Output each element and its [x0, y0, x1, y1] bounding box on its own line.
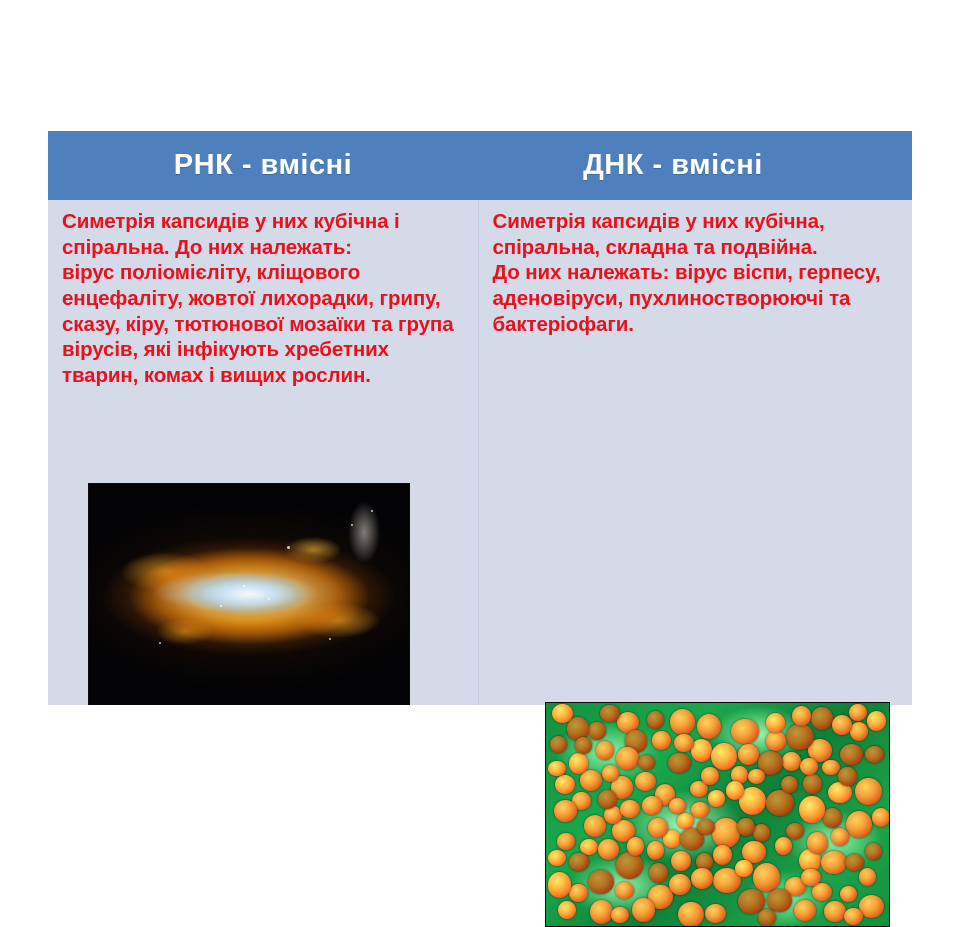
virus-particle — [811, 707, 833, 730]
virus-particle — [584, 815, 606, 837]
virus-particle — [824, 901, 846, 921]
virus-particle — [569, 884, 588, 902]
virus-particle — [781, 776, 798, 793]
virus-particle — [632, 898, 655, 923]
rna-paragraph-1: Симетрія капсидів у них кубічна і спірал… — [62, 209, 466, 260]
virus-particle — [838, 767, 856, 786]
virus-particle — [867, 711, 886, 731]
virus-particle — [803, 774, 822, 794]
table-header-rna-label: РНК - вмісні — [54, 150, 472, 182]
virus-particle — [558, 901, 576, 919]
table-header-rna: РНК - вмісні — [48, 131, 478, 200]
virus-particle — [611, 907, 628, 924]
virus-particle — [846, 811, 872, 838]
virus-particle — [855, 778, 882, 806]
virus-particle — [620, 800, 641, 819]
virus-particle — [557, 833, 574, 849]
virus-particle — [575, 737, 592, 754]
virus-particle — [705, 904, 726, 923]
virus-particle — [548, 872, 572, 897]
virus-particle — [712, 818, 739, 848]
virus-particle — [758, 909, 776, 926]
virus-particle — [580, 770, 603, 791]
virus-particle — [840, 886, 857, 902]
virus-particle — [775, 837, 792, 855]
virus-particle — [649, 863, 668, 883]
virus-particle — [669, 874, 691, 895]
virus-particle — [794, 900, 816, 921]
virus-particle — [697, 714, 721, 740]
virus-particle — [668, 753, 690, 773]
virus-particle — [552, 704, 573, 723]
virus-particle — [799, 796, 824, 823]
virus-particle — [670, 709, 696, 735]
virus-particle — [823, 808, 843, 828]
virus-particle — [677, 813, 694, 829]
virus-particle — [678, 902, 704, 927]
virus-particle — [865, 746, 884, 764]
virus-particle — [671, 851, 691, 871]
virus-particle — [800, 758, 818, 775]
virus-particle — [598, 839, 619, 860]
virus-particle — [616, 852, 643, 879]
virus-particle — [642, 796, 662, 815]
virus-particle — [588, 870, 614, 894]
virus-particle — [627, 837, 644, 856]
virus-particle — [726, 781, 744, 799]
virus-particle — [832, 715, 852, 735]
virus-particle — [652, 731, 671, 750]
table-header-dna-label: ДНК - вмісні — [484, 150, 906, 182]
virus-particle — [812, 883, 832, 901]
table-header-dna: ДНК - вмісні — [478, 131, 912, 200]
virus-particle — [708, 790, 726, 806]
virus-particle — [845, 854, 864, 871]
virus-particle — [767, 889, 791, 912]
virus-particle — [792, 706, 811, 726]
virus-particle — [569, 753, 588, 773]
virus-particle — [647, 841, 664, 860]
virus-particle — [711, 743, 737, 771]
virus-particle — [735, 860, 753, 878]
virus-particle — [615, 882, 635, 900]
virus-particle — [598, 790, 617, 809]
virus-particle — [648, 818, 668, 838]
virus-particle — [588, 722, 606, 739]
virus-particle — [737, 818, 755, 836]
virus-particle — [596, 741, 614, 760]
virus-particle — [691, 802, 709, 819]
virus-particle — [786, 724, 813, 750]
virus-particle — [753, 863, 781, 892]
virus-particle — [840, 744, 864, 765]
slide-canvas: РНК - вмісні ДНК - вмісні Симетрія капси… — [0, 0, 960, 720]
virus-particle — [569, 853, 589, 871]
virus-particle — [807, 832, 828, 854]
virus-particle — [638, 755, 655, 771]
virus-particle — [701, 767, 719, 786]
virus-particle — [822, 760, 839, 775]
virus-particle — [872, 808, 890, 827]
virus-particle — [548, 850, 566, 866]
dna-paragraph-1: Симетрія капсидів у них кубічна, спіраль… — [493, 209, 901, 260]
rna-paragraph-2: вірус поліомієліту, кліщового енцефаліту… — [62, 260, 466, 388]
virus-particle — [849, 704, 867, 722]
virus-particle — [753, 824, 770, 842]
table-header-row: РНК - вмісні ДНК - вмісні — [48, 131, 912, 200]
virus-particle — [590, 900, 613, 924]
virus-particle — [844, 908, 863, 925]
virus-particle — [635, 772, 656, 791]
table-cell-dna: Симетрія капсидів у них кубічна, спіраль… — [478, 200, 912, 705]
virus-particle — [766, 731, 786, 750]
virus-particle — [782, 752, 801, 771]
virus-particle — [554, 800, 577, 823]
virus-particle — [850, 722, 868, 740]
virus-particle — [738, 744, 759, 765]
virus-particle — [548, 761, 565, 776]
virus-particle — [555, 775, 575, 794]
virus-particle — [766, 790, 794, 815]
virus-particle — [691, 868, 714, 889]
virus-particle — [786, 823, 804, 839]
virus-particle — [801, 869, 821, 887]
virus-particle — [616, 747, 639, 770]
virus-particle — [748, 769, 765, 784]
virus-particle — [713, 845, 733, 865]
virus-particle — [859, 868, 877, 887]
virus-particle — [550, 736, 567, 753]
virus-particle — [669, 798, 686, 814]
virus-particle — [821, 851, 846, 874]
dna-paragraph-2: До них належать: вірус віспи, герпесу, а… — [493, 260, 901, 337]
virus-particle — [731, 719, 758, 744]
dna-virus-micrograph-image: Електронна мікрофотографія: помаранчеві … — [545, 702, 890, 927]
virus-particle — [865, 843, 882, 860]
virus-particle — [766, 713, 786, 733]
virus-particle — [831, 828, 849, 846]
rna-virus-micrograph-image: Мікрофотографія: помаранчевий спалах з б… — [88, 483, 410, 705]
